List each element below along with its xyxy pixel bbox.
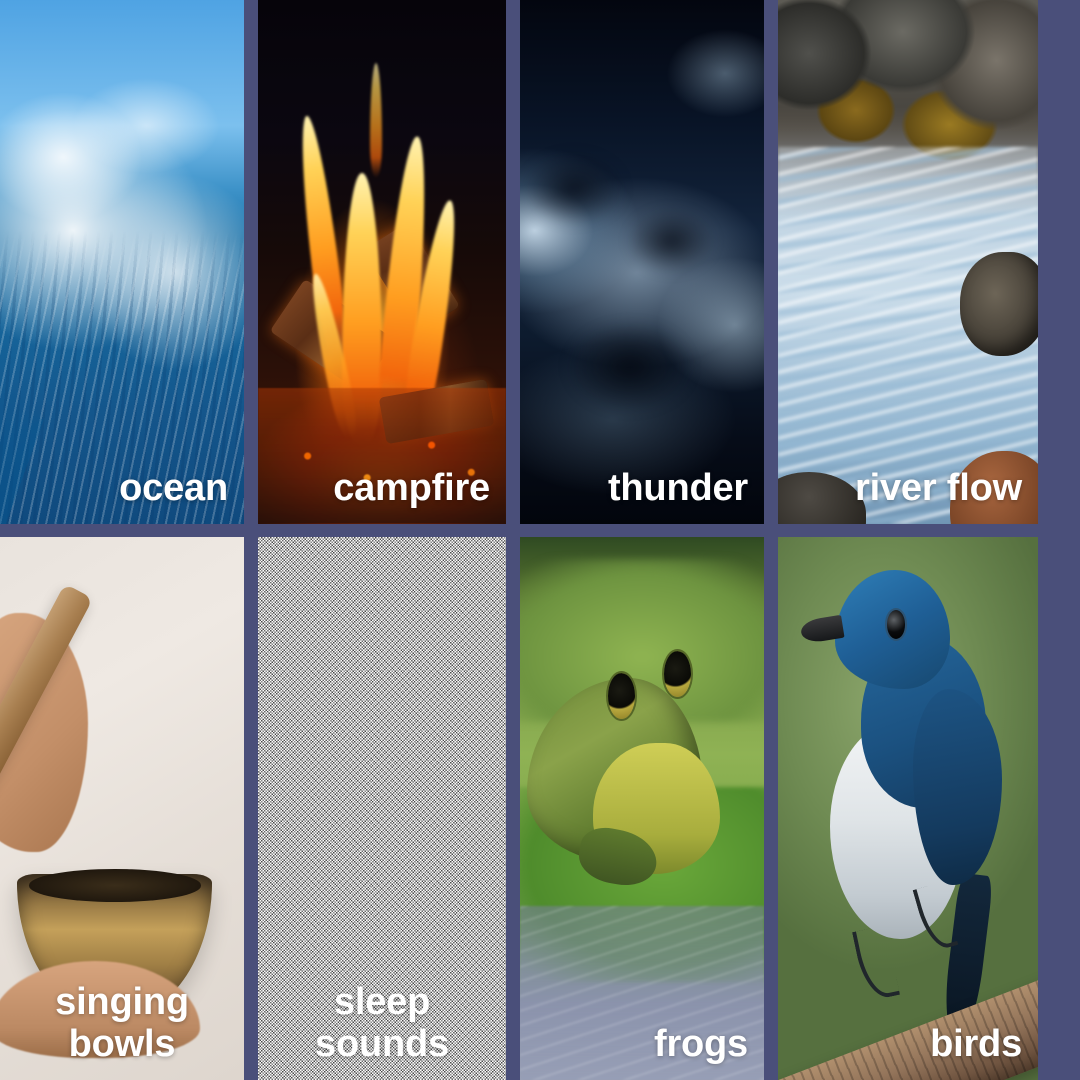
tile-singing-bowls[interactable]: singing bowls <box>0 537 258 1080</box>
campfire-image <box>258 0 506 524</box>
rock-shape <box>960 252 1038 357</box>
sound-category-grid: ocean campfire thunder <box>0 0 1080 1080</box>
tile-label-ocean: ocean <box>0 467 244 510</box>
tile-birds[interactable]: birds <box>778 537 1038 1080</box>
frog-eye-shape <box>608 673 635 719</box>
tile-thunder[interactable]: thunder <box>520 0 778 537</box>
tile-label-birds: birds <box>778 1023 1038 1066</box>
river-rapids-image <box>778 0 1038 524</box>
frog-eye-shape <box>664 651 691 697</box>
frog-lilypad-image <box>520 537 764 1080</box>
tile-label-sleep-sounds: sleep sounds <box>258 981 506 1066</box>
tile-frogs[interactable]: frogs <box>520 537 778 1080</box>
tile-label-frogs: frogs <box>520 1023 764 1066</box>
tile-sleep-sounds[interactable]: sleep sounds <box>258 537 520 1080</box>
blue-bird-image <box>778 537 1038 1080</box>
tile-river-flow[interactable]: river flow <box>778 0 1038 537</box>
ocean-wave-image <box>0 0 244 524</box>
tile-label-campfire: campfire <box>258 467 506 510</box>
tile-campfire[interactable]: campfire <box>258 0 520 537</box>
tile-label-singing-bowls: singing bowls <box>0 981 244 1066</box>
tile-ocean[interactable]: ocean <box>0 0 258 537</box>
bird-wing-shape <box>913 689 1001 884</box>
tile-label-thunder: thunder <box>520 467 764 510</box>
storm-clouds-image <box>520 0 764 524</box>
bird-eye-shape <box>887 610 905 638</box>
tile-label-river-flow: river flow <box>778 467 1038 510</box>
flame-shape <box>370 63 382 178</box>
